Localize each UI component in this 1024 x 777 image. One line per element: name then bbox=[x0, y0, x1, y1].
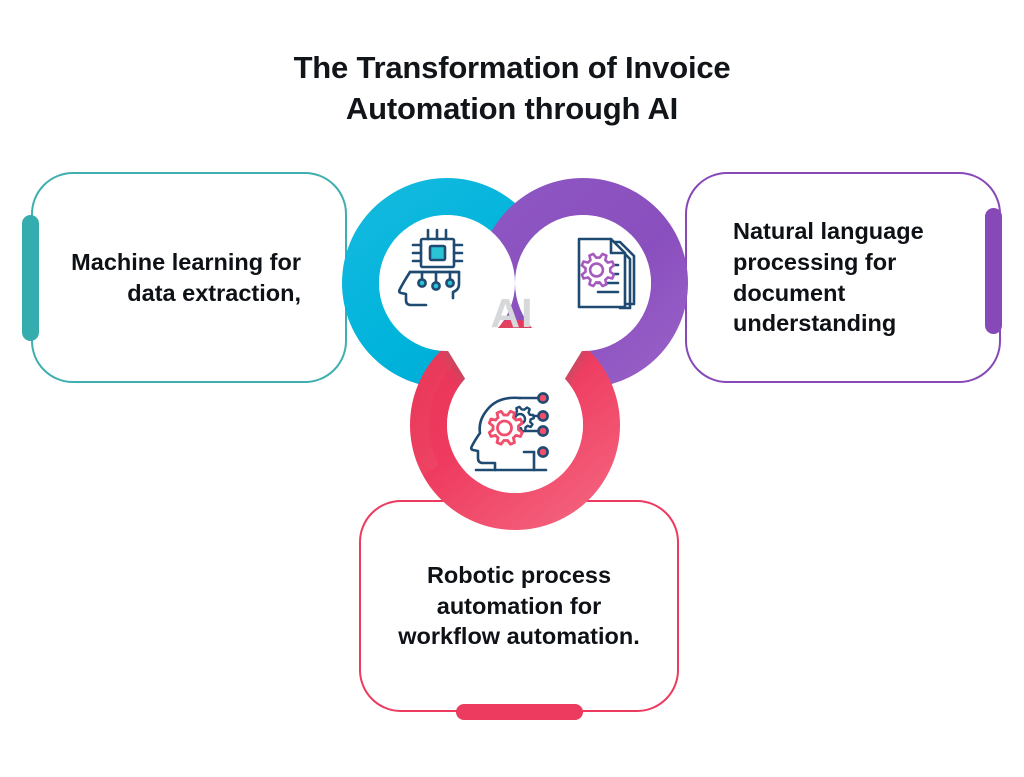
callout-machine-learning[interactable]: Machine learning for data extraction, bbox=[31, 172, 347, 383]
callout-robotic-process-automation-text: Robotic process automation for workflow … bbox=[361, 560, 677, 652]
callout-robotic-process-automation[interactable]: Robotic process automation for workflow … bbox=[359, 500, 679, 712]
callout-machine-learning-text: Machine learning for data extraction, bbox=[33, 247, 345, 308]
page-title-line-2: Automation through AI bbox=[0, 89, 1024, 130]
accent-bar-machine-learning bbox=[22, 215, 39, 341]
callout-natural-language-processing[interactable]: Natural language processing for document… bbox=[685, 172, 1001, 383]
accent-bar-natural-language-processing bbox=[985, 208, 1002, 334]
document-gear-icon bbox=[562, 232, 648, 319]
gear-head-icon bbox=[462, 386, 558, 479]
accent-bar-robotic-process-automation bbox=[456, 704, 583, 720]
chip-head-icon bbox=[396, 226, 484, 315]
infographic-canvas: The Transformation of Invoice Automation… bbox=[0, 0, 1024, 777]
page-title-line-1: The Transformation of Invoice bbox=[0, 48, 1024, 89]
callout-natural-language-processing-text: Natural language processing for document… bbox=[687, 216, 999, 338]
page-title: The Transformation of Invoice Automation… bbox=[0, 48, 1024, 130]
